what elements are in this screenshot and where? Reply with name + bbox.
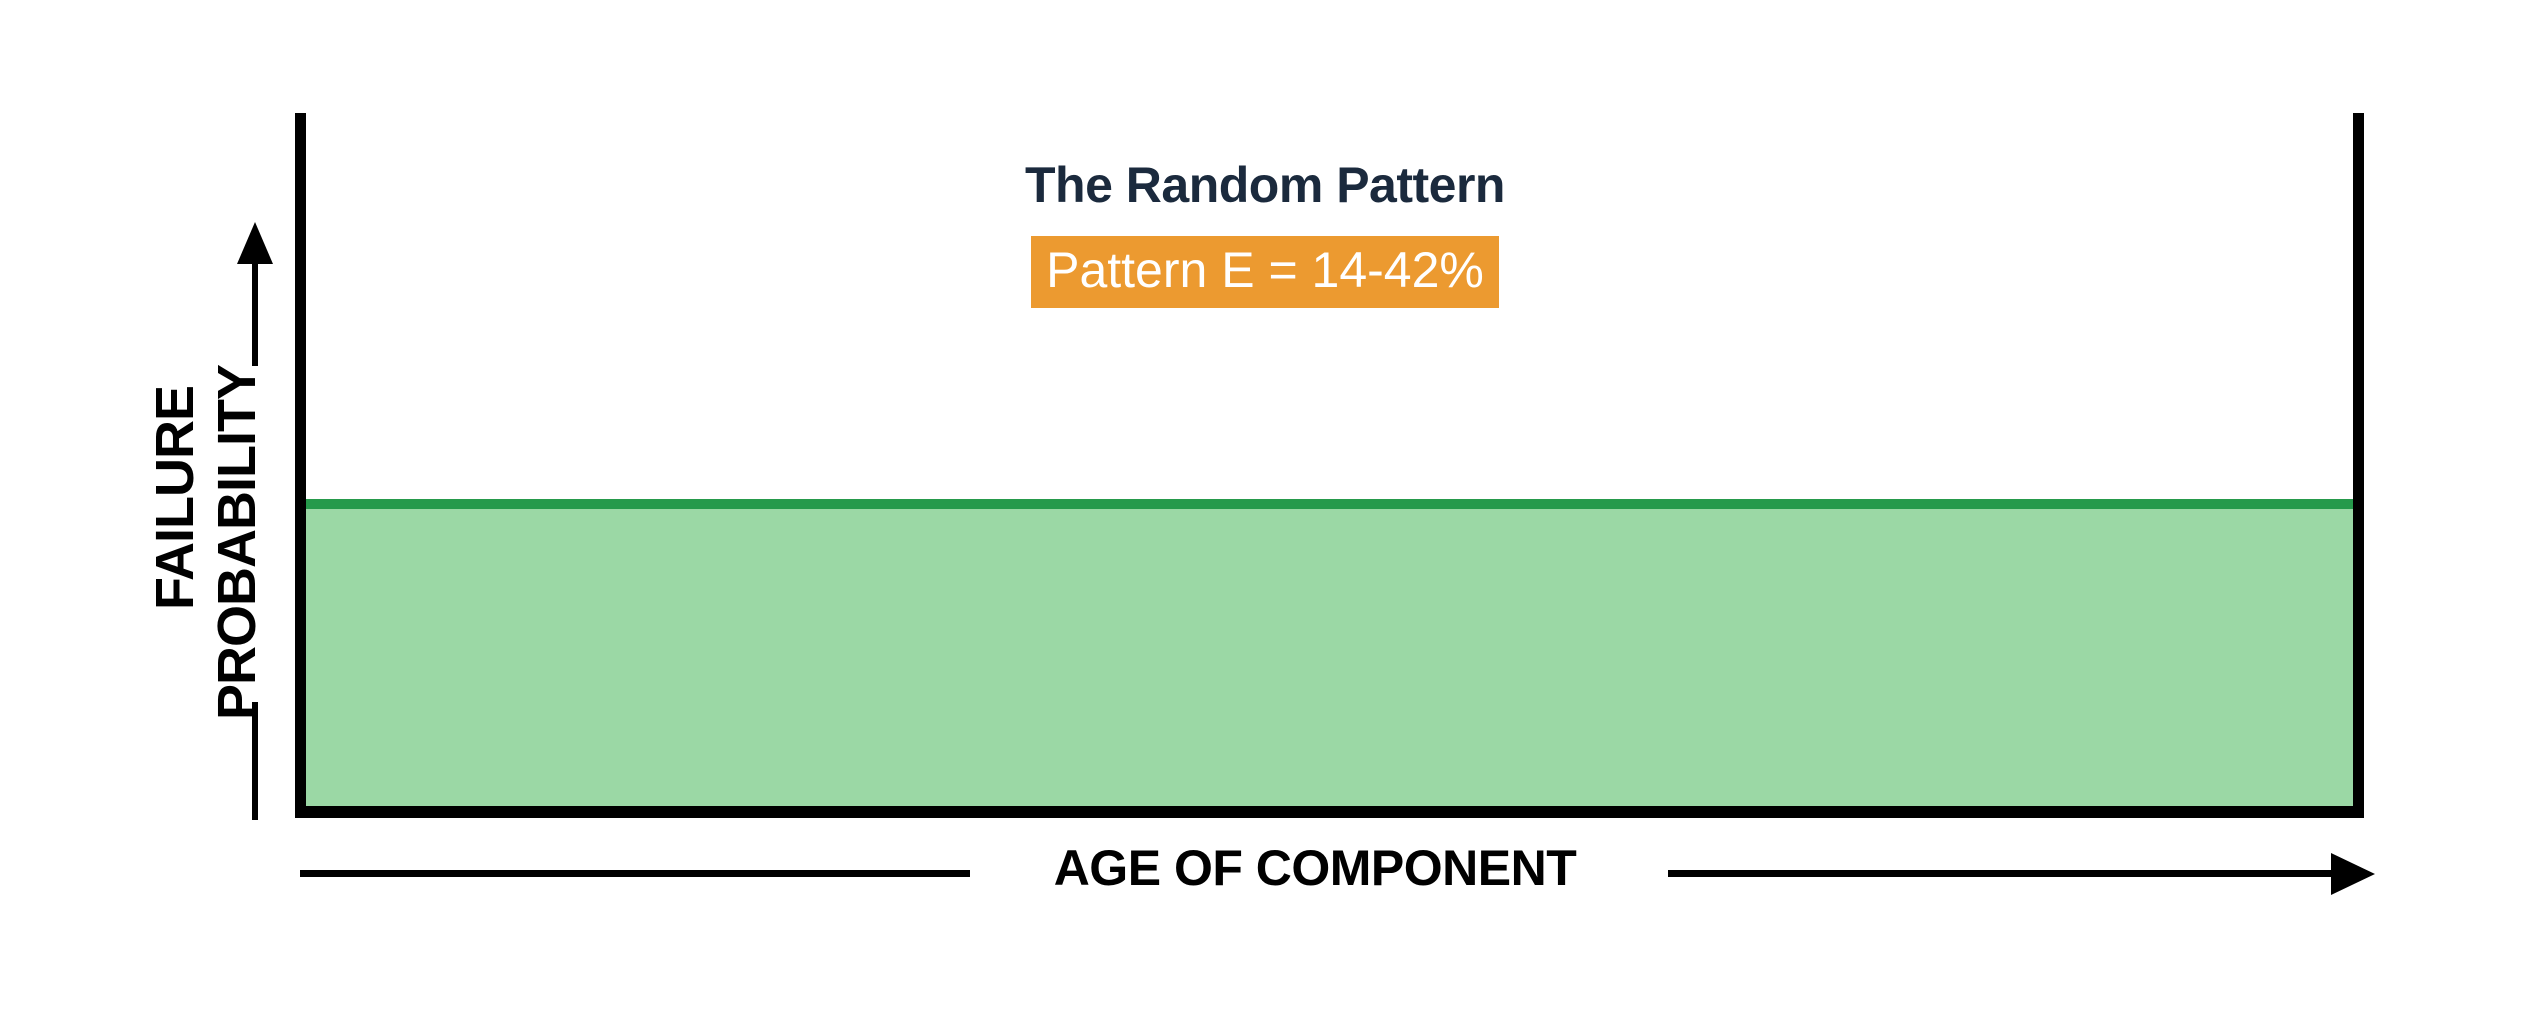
- x-axis-baseline: [295, 806, 2364, 818]
- y-axis-line: [295, 113, 306, 818]
- y-axis-label-line2: PROBABILITY: [210, 365, 264, 720]
- title-block: The Random Pattern Pattern E = 14-42%: [700, 160, 1830, 308]
- y-axis-label-line1: FAILURE: [148, 386, 202, 610]
- chart-title: The Random Pattern: [700, 160, 1830, 210]
- y-axis-arrow-shaft: [252, 258, 258, 366]
- failure-probability-band-line: [306, 499, 2353, 509]
- failure-probability-band-fill: [306, 508, 2353, 806]
- y-axis-arrow-tail: [252, 702, 258, 820]
- subtitle-wrap: Pattern E = 14-42%: [700, 236, 1830, 308]
- random-pattern-chart: The Random Pattern Pattern E = 14-42% FA…: [0, 0, 2521, 1020]
- x-axis-label: AGE OF COMPONENT: [970, 838, 1660, 898]
- y-axis-label-group: FAILURE PROBABILITY: [130, 110, 295, 822]
- x-axis-rule-left: [300, 870, 970, 877]
- pattern-share-badge: Pattern E = 14-42%: [1031, 236, 1499, 308]
- arrow-right-icon: [2331, 853, 2375, 895]
- plot-right-border-line: [2353, 113, 2364, 818]
- x-axis-label-group: AGE OF COMPONENT: [0, 838, 2521, 928]
- x-axis-rule-right: [1668, 870, 2333, 877]
